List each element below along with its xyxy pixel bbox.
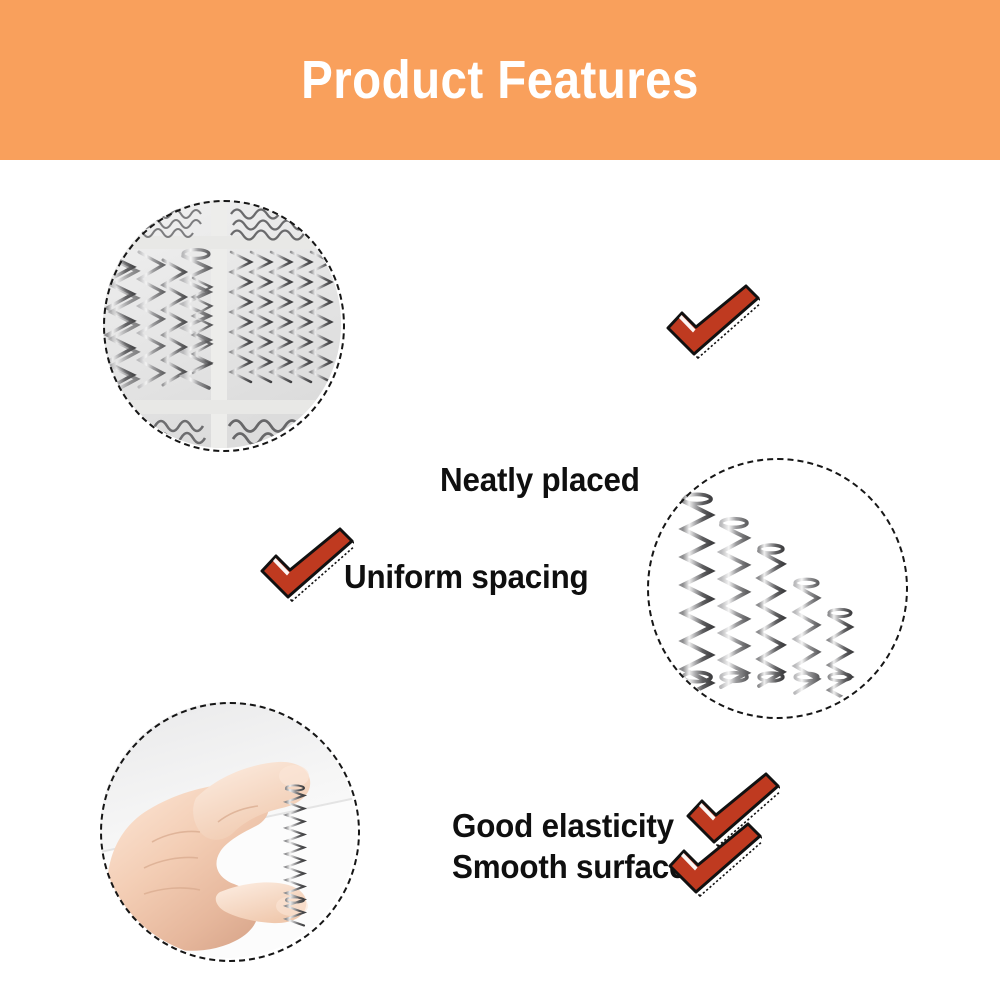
checkmark-icon	[666, 822, 762, 898]
springs-box-illustration	[103, 200, 341, 448]
feature-label-neatly-placed: Neatly placed	[440, 460, 640, 500]
photo-graduated-springs-row	[647, 458, 904, 715]
checkmark-icon	[664, 284, 760, 360]
check-icon-uniform-spacing	[258, 527, 354, 608]
features-stage: Neatly placed Uniform spacing	[0, 160, 1000, 1000]
feature-label-good-elasticity: Good elasticity	[452, 805, 674, 846]
checkmark-icon	[258, 527, 354, 603]
hand-spring-illustration	[100, 702, 356, 958]
check-icon-neatly-placed	[664, 284, 760, 365]
photo-springs-in-compartment-box	[103, 200, 341, 448]
photo-hand-holding-spring	[100, 702, 356, 958]
page-title: Product Features	[60, 0, 940, 160]
feature-label-smooth-surface: Smooth surface	[452, 846, 686, 887]
feature-label-uniform-spacing: Uniform spacing	[344, 557, 588, 597]
check-icon-smooth-surface	[666, 822, 762, 903]
graduated-springs-illustration	[647, 458, 904, 715]
